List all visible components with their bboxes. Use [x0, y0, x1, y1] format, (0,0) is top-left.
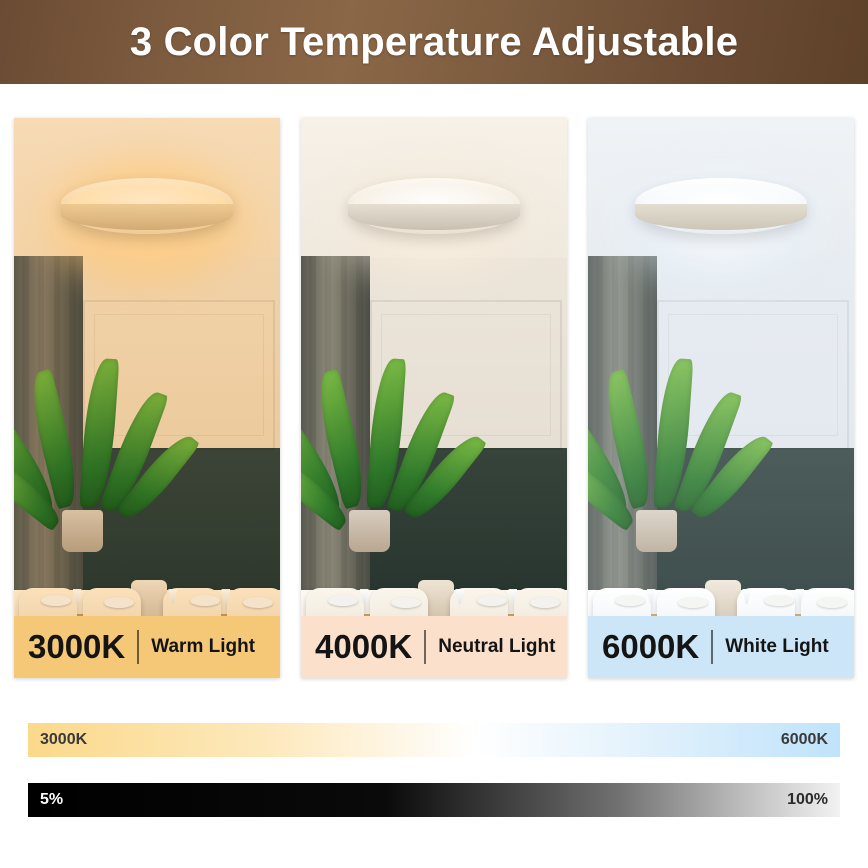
- header-banner: 3 Color Temperature Adjustable: [0, 0, 868, 84]
- label-strip-6000k: 6000K White Light: [588, 616, 854, 678]
- kelvin-value: 4000K: [301, 628, 412, 666]
- label-divider: [137, 630, 139, 664]
- panel-6000k[interactable]: 6000K White Light: [588, 118, 854, 678]
- label-divider: [711, 630, 713, 664]
- dimming-bar[interactable]: 5% 100%: [28, 783, 840, 817]
- panel-4000k[interactable]: 4000K Neutral Light: [301, 118, 567, 678]
- light-name: Warm Light: [151, 636, 255, 658]
- cct-max-label: 6000K: [781, 731, 828, 749]
- cct-min-label: 3000K: [40, 731, 87, 749]
- label-divider: [424, 630, 426, 664]
- warm-tint-overlay: [14, 118, 280, 678]
- panel-3000k[interactable]: 3000K Warm Light: [14, 118, 280, 678]
- label-strip-4000k: 4000K Neutral Light: [301, 616, 567, 678]
- label-strip-3000k: 3000K Warm Light: [14, 616, 280, 678]
- light-name: White Light: [725, 636, 828, 658]
- kelvin-value: 6000K: [588, 628, 699, 666]
- cool-tint-overlay: [588, 118, 854, 678]
- color-temperature-bar[interactable]: 3000K 6000K: [28, 723, 840, 757]
- scene-4000k: [301, 118, 567, 678]
- scene-3000k: [14, 118, 280, 678]
- neutral-tint-overlay: [301, 118, 567, 678]
- bars-container: 3000K 6000K 5% 100%: [0, 700, 868, 868]
- kelvin-value: 3000K: [14, 628, 125, 666]
- light-name: Neutral Light: [438, 636, 555, 658]
- scene-6000k: [588, 118, 854, 678]
- page-title: 3 Color Temperature Adjustable: [130, 20, 738, 65]
- panels-container: 3000K Warm Light: [0, 84, 868, 700]
- dim-min-label: 5%: [40, 791, 63, 809]
- dim-max-label: 100%: [787, 791, 828, 809]
